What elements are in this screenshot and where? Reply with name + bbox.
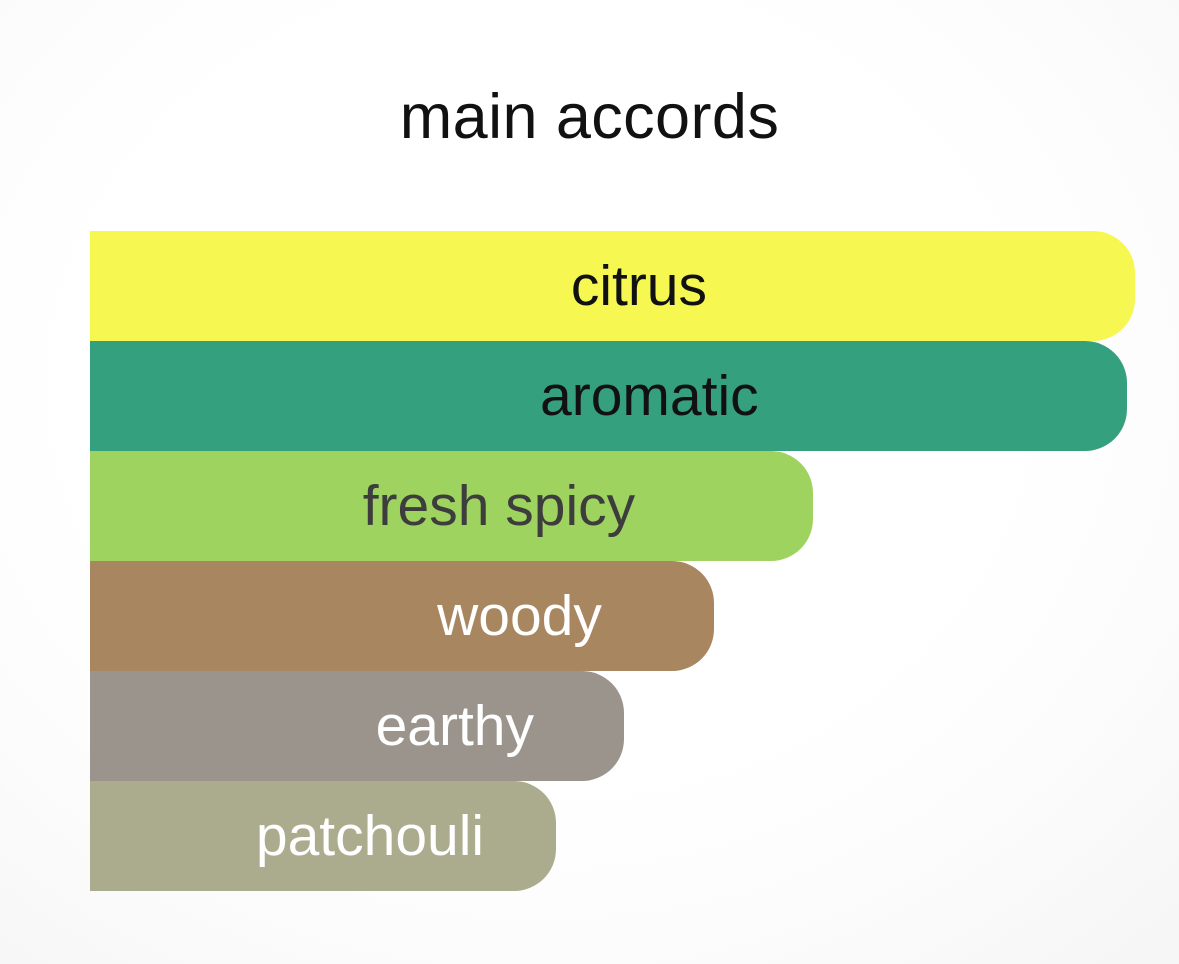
accord-bar[interactable]: earthy (90, 671, 624, 781)
accord-bar[interactable]: woody (90, 561, 714, 671)
main-accords-chart: main accords citrusaromaticfresh spicywo… (0, 0, 1179, 964)
accord-row: fresh spicy (90, 451, 1135, 561)
accord-label: citrus (571, 231, 1135, 341)
accord-row: citrus (90, 231, 1135, 341)
accord-row: aromatic (90, 341, 1135, 451)
accord-row: earthy (90, 671, 1135, 781)
accord-label: earthy (376, 671, 624, 781)
accord-bar[interactable]: fresh spicy (90, 451, 813, 561)
accord-label: fresh spicy (363, 451, 813, 561)
accord-bar[interactable]: patchouli (90, 781, 556, 891)
accord-label: woody (437, 561, 714, 671)
accord-bar[interactable]: aromatic (90, 341, 1127, 451)
accord-row: woody (90, 561, 1135, 671)
chart-title: main accords (0, 86, 1179, 149)
accord-bar-list: citrusaromaticfresh spicywoodyearthypatc… (90, 231, 1135, 891)
accord-bar[interactable]: citrus (90, 231, 1135, 341)
accord-label: patchouli (256, 781, 556, 891)
accord-label: aromatic (540, 341, 1127, 451)
accord-row: patchouli (90, 781, 1135, 891)
